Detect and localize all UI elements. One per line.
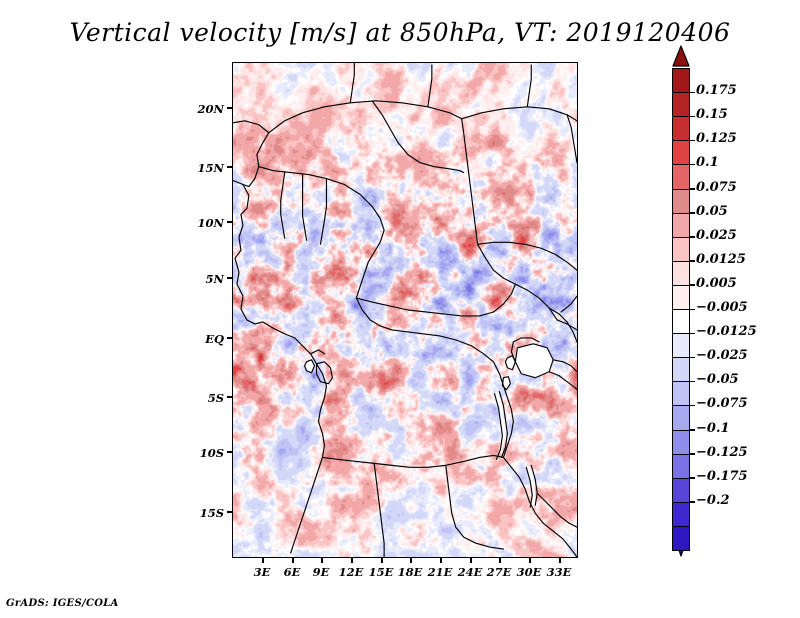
colorbar-tick-label: 0.025 xyxy=(696,228,737,243)
colorbar-segment xyxy=(672,92,690,117)
x-tick-mark xyxy=(351,558,353,563)
x-tick-mark xyxy=(262,558,264,563)
x-tick-mark xyxy=(499,558,501,563)
colorbar-tick-mark xyxy=(690,164,695,166)
y-tick-mark xyxy=(227,221,232,223)
colorbar-tick-label: −0.005 xyxy=(696,300,748,315)
colorbar-tick-label: 0.1 xyxy=(696,155,719,170)
colorbar-tick-label: −0.05 xyxy=(696,372,739,387)
y-tick-label-10s: 10S xyxy=(182,446,224,460)
y-tick-label-5s: 5S xyxy=(182,391,224,405)
colorbar-segment xyxy=(672,237,690,262)
y-tick-label-5n: 5N xyxy=(182,272,224,286)
colorbar-tick-mark xyxy=(690,309,695,311)
colorbar-tick-mark xyxy=(690,284,695,286)
y-tick-label-15n: 15N xyxy=(182,161,224,175)
y-tick-mark xyxy=(227,107,232,109)
y-tick-mark xyxy=(227,396,232,398)
colorbar-tick-mark xyxy=(690,212,695,214)
colorbar-tick-label: −0.175 xyxy=(696,469,748,484)
footer-credit: GrADS: IGES/COLA xyxy=(6,598,119,609)
colorbar-tick-mark xyxy=(690,333,695,335)
colorbar-tick-label: 0.125 xyxy=(696,131,737,146)
x-tick-mark xyxy=(440,558,442,563)
colorbar-segment xyxy=(672,333,690,358)
y-tick-label-10n: 10N xyxy=(182,216,224,230)
colorbar-tick-mark xyxy=(690,92,695,94)
colorbar-segment xyxy=(672,430,690,455)
colorbar-tick-label: 0.075 xyxy=(696,180,737,195)
colorbar-tick-label: −0.075 xyxy=(696,396,748,411)
y-tick-mark xyxy=(227,337,232,339)
colorbar-segment xyxy=(672,478,690,503)
colorbar-segment xyxy=(672,357,690,382)
y-tick-mark xyxy=(227,166,232,168)
colorbar-tick-label: −0.125 xyxy=(696,445,748,460)
colorbar-tick-label: −0.2 xyxy=(696,493,730,508)
colorbar-segment xyxy=(672,140,690,165)
x-tick-mark xyxy=(292,558,294,563)
colorbar-tick-mark xyxy=(690,236,695,238)
colorbar-segment xyxy=(672,454,690,479)
colorbar-segment xyxy=(672,116,690,141)
x-tick-mark xyxy=(410,558,412,563)
colorbar-tick-mark xyxy=(690,477,695,479)
colorbar-tick-mark xyxy=(690,453,695,455)
y-tick-mark xyxy=(227,511,232,513)
chart-title: Vertical velocity [m/s] at 850hPa, VT: 2… xyxy=(0,18,800,47)
country-borders-overlay xyxy=(233,63,577,557)
colorbar-tick-label: −0.0125 xyxy=(696,324,757,339)
colorbar-segment xyxy=(672,502,690,527)
colorbar-tick-mark xyxy=(690,188,695,190)
x-tick-mark xyxy=(470,558,472,563)
colorbar-tick-label: 0.05 xyxy=(696,204,728,219)
colorbar-segment xyxy=(672,381,690,406)
colorbar-tick-label: −0.1 xyxy=(696,421,730,436)
colorbar-tick-mark xyxy=(690,260,695,262)
colorbar-tick-mark xyxy=(690,140,695,142)
colorbar-tick-mark xyxy=(690,357,695,359)
x-tick-label-33e: 33E xyxy=(539,565,579,579)
colorbar-tick-label: 0.0125 xyxy=(696,252,746,267)
chart-canvas: Vertical velocity [m/s] at 850hPa, VT: 2… xyxy=(0,0,800,618)
colorbar-segment xyxy=(672,164,690,189)
y-tick-mark xyxy=(227,277,232,279)
map-plot-area xyxy=(232,62,578,558)
colorbar: 0.1750.150.1250.10.0750.050.0250.01250.0… xyxy=(670,62,790,558)
colorbar-segment xyxy=(672,68,690,93)
colorbar-tick-label: 0.175 xyxy=(696,83,737,98)
colorbar-segment xyxy=(672,261,690,286)
colorbar-segment xyxy=(672,309,690,334)
colorbar-tick-label: −0.025 xyxy=(696,348,748,363)
y-tick-label-15s: 15S xyxy=(182,506,224,520)
colorbar-tick-mark xyxy=(690,429,695,431)
colorbar-segment xyxy=(672,526,690,551)
colorbar-tick-label: 0.15 xyxy=(696,107,728,122)
colorbar-segment xyxy=(672,213,690,238)
colorbar-segment xyxy=(672,405,690,430)
y-tick-label-20n: 20N xyxy=(182,102,224,116)
colorbar-tick-mark xyxy=(690,501,695,503)
colorbar-tick-mark xyxy=(690,381,695,383)
colorbar-segment xyxy=(672,285,690,310)
x-tick-mark xyxy=(321,558,323,563)
colorbar-tick-mark xyxy=(690,116,695,118)
x-tick-mark xyxy=(559,558,561,563)
colorbar-segment xyxy=(672,189,690,214)
x-tick-mark xyxy=(381,558,383,563)
y-tick-mark xyxy=(227,451,232,453)
x-tick-mark xyxy=(529,558,531,563)
y-tick-label-eq: EQ xyxy=(182,332,224,346)
colorbar-tick-label: 0.005 xyxy=(696,276,737,291)
colorbar-tick-mark xyxy=(690,405,695,407)
